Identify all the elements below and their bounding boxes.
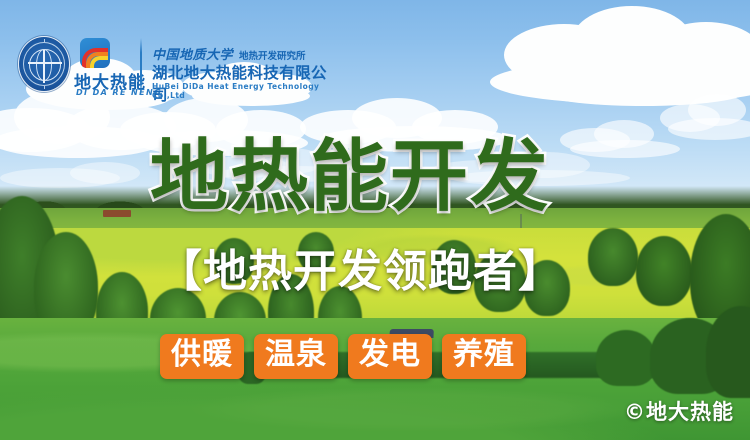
red-barn (103, 210, 131, 217)
seal-tick (44, 39, 45, 42)
service-tag-power[interactable]: 发电 (348, 334, 432, 379)
main-title: 地热能开发 (150, 134, 550, 220)
rainbow-stripe-yellow (90, 56, 108, 68)
seal-tick (44, 86, 45, 89)
tree-right-b (636, 236, 692, 306)
university-seal-icon (18, 36, 70, 92)
bush-b (596, 330, 656, 386)
service-tag-aquaculture[interactable]: 养殖 (442, 334, 526, 379)
geothermal-banner: 地大热能 DI DA RE NENG 中国地质大学地热开发研究所 湖北地大热能科… (0, 0, 750, 440)
service-tag-heating[interactable]: 供暖 (160, 334, 244, 379)
service-tag-list: 供暖 温泉 发电 养殖 (160, 334, 526, 379)
seal-vertical-bar (43, 50, 45, 83)
company-name-en: HuBei DiDa Heat Energy Technology Co.,Lt… (152, 82, 340, 100)
copyright-watermark: ©地大热能 (624, 396, 734, 426)
seal-horizontal-bar (28, 62, 62, 64)
service-tag-hotspring[interactable]: 温泉 (254, 334, 338, 379)
rainbow-square-logo-icon (80, 38, 110, 68)
sub-title: 【地热开发领跑者】 (158, 246, 563, 298)
brand-header: 地大热能 DI DA RE NENG 中国地质大学地热开发研究所 湖北地大热能科… (0, 0, 340, 120)
tree-right-a (588, 228, 638, 286)
brand-name-pinyin: DI DA RE NENG (76, 88, 162, 97)
header-divider (140, 38, 142, 96)
